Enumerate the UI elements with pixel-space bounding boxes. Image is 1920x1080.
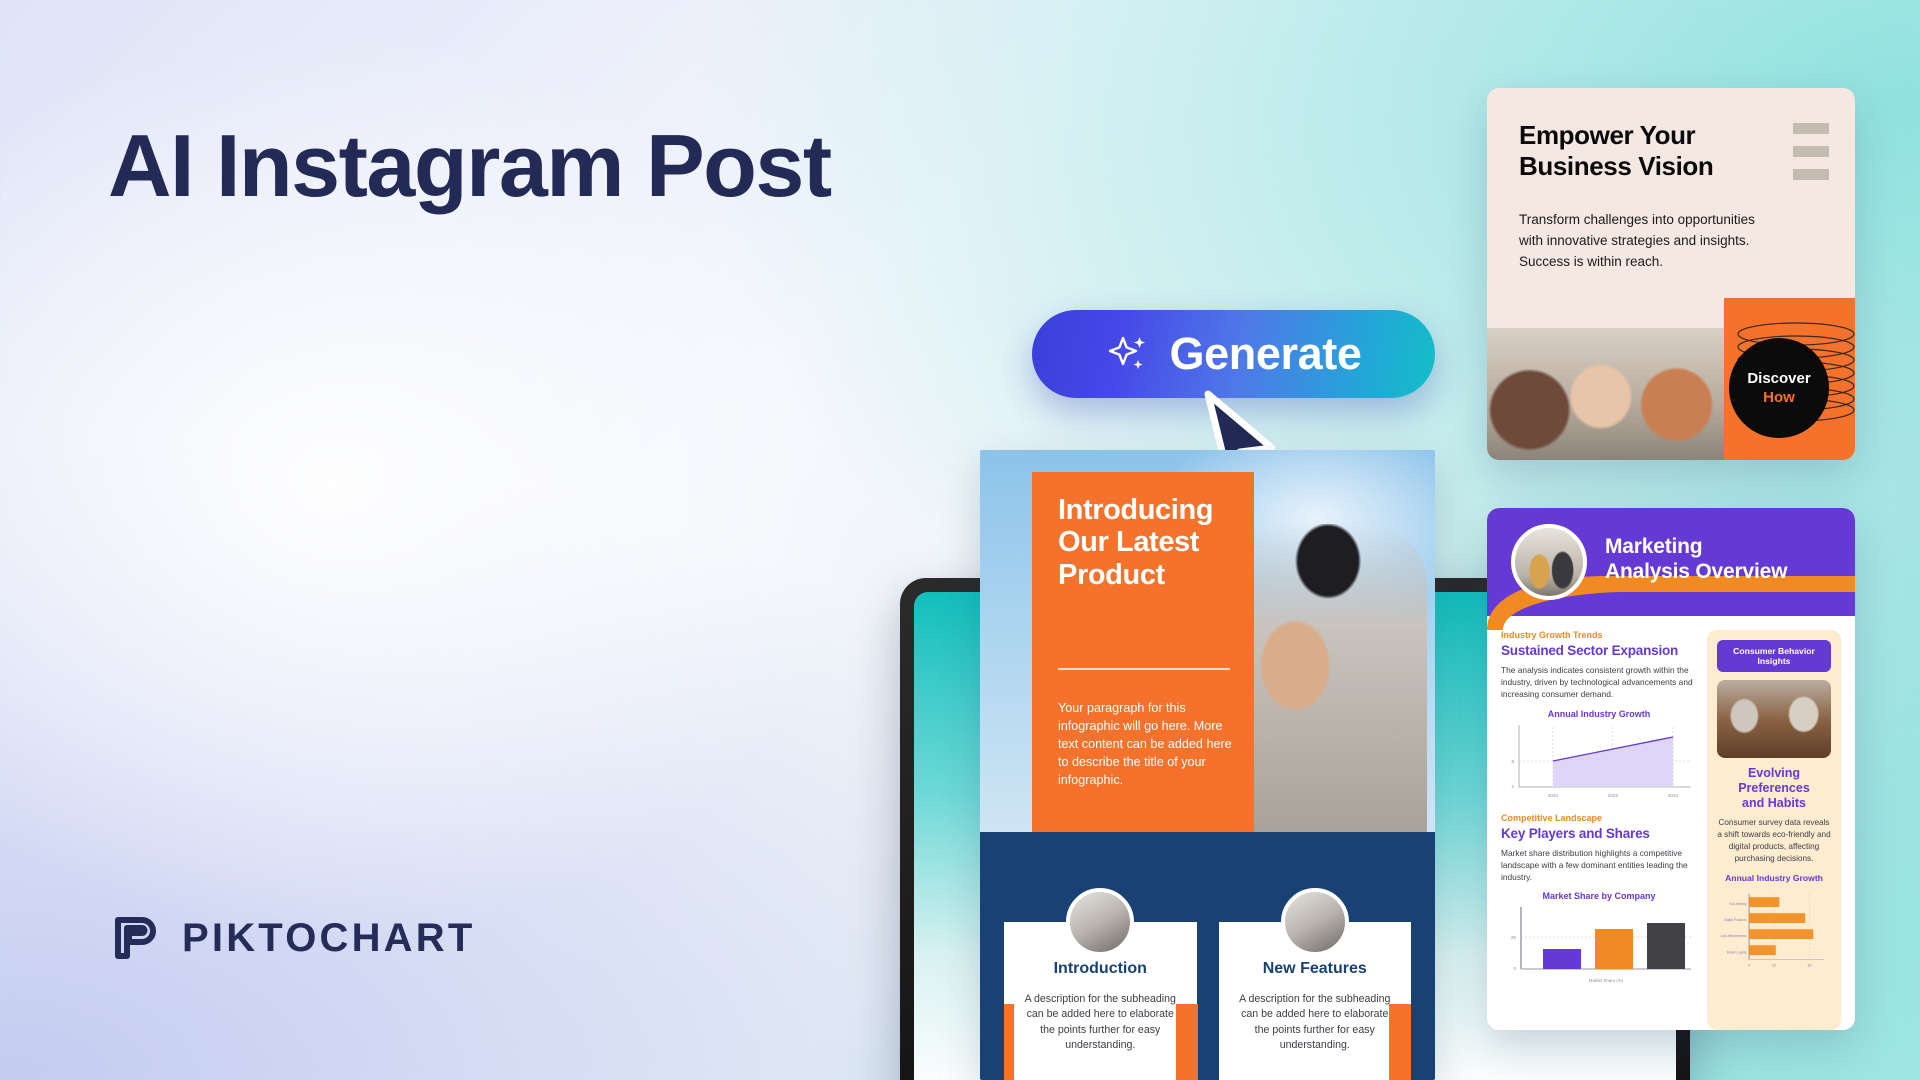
product-tiles: Introduction A description for the subhe… <box>1004 922 1411 1080</box>
empower-title: Empower Your Business Vision <box>1519 120 1713 181</box>
notebook-photo-icon <box>1281 888 1349 956</box>
tile-heading: New Features <box>1233 960 1398 978</box>
annual-industry-growth-hbar-chart: Eco-friendly Digital Products Cost-effec… <box>1717 883 1831 984</box>
marketing-title: Marketing Analysis Overview <box>1605 534 1787 584</box>
svg-text:Market Share (%): Market Share (%) <box>1589 978 1624 983</box>
product-title: Introducing Our Latest Product <box>1058 494 1213 591</box>
product-accent-right <box>1389 1004 1411 1080</box>
svg-text:2024: 2024 <box>1668 793 1679 798</box>
evolving-preferences-heading: Evolving Preferences and Habits <box>1717 766 1831 811</box>
laptop-coffee-photo <box>1717 680 1831 758</box>
svg-text:20: 20 <box>1772 963 1776 967</box>
product-infographic-card[interactable]: Introducing Our Latest Product Your para… <box>980 450 1435 1080</box>
marketing-body: Industry Growth Trends Sustained Sector … <box>1487 630 1855 1030</box>
product-tile-introduction[interactable]: Introduction A description for the subhe… <box>1004 922 1197 1080</box>
annual-industry-growth-area-chart: 5 2 2022 2023 2024 <box>1501 721 1697 805</box>
svg-text:60: 60 <box>1808 963 1812 967</box>
empower-bar-decoration <box>1793 123 1829 180</box>
svg-text:0: 0 <box>1513 966 1516 971</box>
svg-text:2022: 2022 <box>1548 793 1559 798</box>
marketing-analysis-card[interactable]: Marketing Analysis Overview Industry Gro… <box>1487 508 1855 1030</box>
marketing-title-line1: Marketing <box>1605 535 1702 558</box>
marketing-title-line2: Analysis Overview <box>1605 560 1787 583</box>
product-accent-mid <box>1176 1004 1198 1080</box>
tile-text: A description for the subheading can be … <box>1018 992 1183 1053</box>
svg-text:5: 5 <box>1511 759 1514 764</box>
decoration-bar <box>1793 123 1829 134</box>
page-title: AI Instagram Post <box>108 120 831 212</box>
product-title-line3: Product <box>1058 559 1165 591</box>
svg-text:25: 25 <box>1511 935 1517 940</box>
product-title-panel: Introducing Our Latest Product Your para… <box>1032 472 1254 836</box>
decoration-bar <box>1793 146 1829 157</box>
section2-subheading: Key Players and Shares <box>1501 826 1697 841</box>
discover-how-badge[interactable]: Discover How <box>1729 338 1829 438</box>
product-accent-left <box>1004 1004 1014 1080</box>
svg-text:0: 0 <box>1748 963 1750 967</box>
area-chart-title: Annual Industry Growth <box>1501 709 1697 719</box>
market-share-bar-chart: 25 0 Market Share (%) <box>1501 903 1697 987</box>
section2-paragraph: Market share distribution highlights a c… <box>1501 847 1697 884</box>
decoration-bar <box>1793 169 1829 180</box>
marketing-right-column: Consumer Behavior Insights Evolving Pref… <box>1707 630 1841 1030</box>
svg-text:Cost-effectiveness: Cost-effectiveness <box>1720 934 1747 938</box>
svg-text:Brand Loyalty: Brand Loyalty <box>1727 950 1747 954</box>
consumer-behavior-pill: Consumer Behavior Insights <box>1717 640 1831 672</box>
svg-text:2023: 2023 <box>1608 793 1619 798</box>
badge-line2: How <box>1763 389 1795 406</box>
svg-text:2: 2 <box>1511 784 1514 789</box>
piktochart-mark-icon <box>110 912 162 964</box>
section2-kicker: Competitive Landscape <box>1501 813 1697 823</box>
section1-subheading: Sustained Sector Expansion <box>1501 643 1697 658</box>
tablet-photo-icon <box>1066 888 1134 956</box>
empower-vision-card[interactable]: Empower Your Business Vision Transform c… <box>1487 88 1855 460</box>
marketing-avatar <box>1511 524 1587 600</box>
svg-text:Digital Products: Digital Products <box>1724 918 1747 922</box>
empower-title-line1: Empower Your <box>1519 120 1695 150</box>
marketing-left-column: Industry Growth Trends Sustained Sector … <box>1501 630 1697 1030</box>
hbar-chart-title: Annual Industry Growth <box>1717 873 1831 883</box>
product-paragraph: Your paragraph for this infographic will… <box>1058 700 1238 789</box>
product-tile-new-features[interactable]: New Features A description for the subhe… <box>1219 922 1412 1080</box>
svg-text:Eco-friendly: Eco-friendly <box>1730 902 1747 906</box>
product-title-line2: Our Latest <box>1058 526 1199 558</box>
product-divider <box>1058 668 1230 670</box>
generate-button[interactable]: Generate <box>1032 310 1435 398</box>
heading-line2: and Habits <box>1742 796 1806 810</box>
generate-button-label: Generate <box>1170 328 1362 380</box>
piktochart-wordmark: PIKTOCHART <box>182 916 475 961</box>
bar-chart-title: Market Share by Company <box>1501 891 1697 901</box>
tile-text: A description for the subheading can be … <box>1233 992 1398 1053</box>
product-title-line1: Introducing <box>1058 494 1213 526</box>
evolving-preferences-paragraph: Consumer survey data reveals a shift tow… <box>1717 817 1831 865</box>
badge-line1: Discover <box>1747 370 1810 387</box>
tile-heading: Introduction <box>1018 960 1183 978</box>
empower-body-text: Transform challenges into opportunities … <box>1519 210 1759 273</box>
sparkle-icon <box>1106 331 1152 377</box>
heading-line1: Evolving Preferences <box>1738 766 1810 795</box>
section1-paragraph: The analysis indicates consistent growth… <box>1501 664 1697 701</box>
section1-kicker: Industry Growth Trends <box>1501 630 1697 640</box>
team-meeting-photo <box>1487 328 1724 460</box>
piktochart-logo: PIKTOCHART <box>110 912 475 964</box>
empower-title-line2: Business Vision <box>1519 151 1713 181</box>
